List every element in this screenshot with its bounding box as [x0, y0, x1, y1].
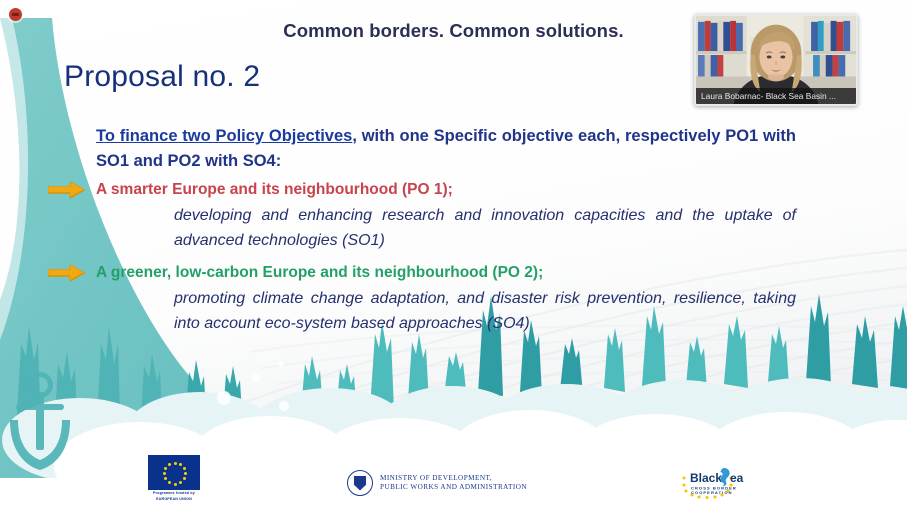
bullet-po1: A smarter Europe and its neighbourhood (… [96, 179, 796, 201]
european-union-flag-logo: Programme funded by EUROPEAN UNION [148, 455, 200, 501]
black-sea-logo-artwork: Black ea CROSS BORDER COOPERATION [676, 462, 756, 500]
arrow-right-icon [48, 181, 86, 199]
eu-flag-icon [148, 455, 200, 490]
footer-logos: Programme funded by EUROPEAN UNION MINIS… [0, 458, 907, 504]
intro-lead: To finance two Policy Objectives [96, 127, 352, 145]
eu-star-icon [164, 477, 167, 480]
black-sea-basin-programme-logo: Black ea CROSS BORDER COOPERATION [676, 462, 756, 500]
svg-text:ea: ea [730, 471, 744, 485]
participant-video-tile[interactable]: Laura Bobarnac- Black Sea Basin ... [694, 14, 858, 106]
bullet-po1-detail: developing and enhancing research and in… [174, 203, 796, 253]
ministry-seal-icon [347, 470, 373, 496]
page-title: Proposal no. 2 [64, 60, 260, 94]
bullet-po2: A greener, low-carbon Europe and its nei… [96, 262, 796, 284]
ministry-line1: MINISTRY OF DEVELOPMENT, [380, 474, 527, 484]
eu-caption-line1: Programme funded by [148, 491, 200, 495]
eu-caption-line2: EUROPEAN UNION [148, 497, 200, 501]
bullet-po1-heading: A smarter Europe and its neighbourhood (… [96, 181, 453, 198]
eu-star-icon [168, 481, 171, 484]
eu-star-icon [174, 462, 177, 465]
eu-star-icon [164, 467, 167, 470]
arrow-right-icon [48, 264, 86, 282]
ministry-of-development-logo: MINISTRY OF DEVELOPMENT, PUBLIC WORKS AN… [347, 470, 527, 496]
slide-body: To finance two Policy Objectives, with o… [96, 124, 796, 336]
eu-star-icon [168, 463, 171, 466]
svg-text:COOPERATION: COOPERATION [691, 490, 733, 495]
ministry-logo-text: MINISTRY OF DEVELOPMENT, PUBLIC WORKS AN… [380, 474, 527, 493]
bullet-po2-detail: promoting climate change adaptation, and… [174, 286, 796, 336]
eu-star-icon [184, 472, 187, 475]
intro-paragraph: To finance two Policy Objectives, with o… [96, 124, 796, 174]
eu-star-icon [179, 463, 182, 466]
eu-star-icon [183, 467, 186, 470]
eu-star-icon [183, 477, 186, 480]
ministry-line2: PUBLIC WORKS AND ADMINISTRATION [380, 483, 527, 493]
eu-star-icon [179, 481, 182, 484]
participant-name-label: Laura Bobarnac- Black Sea Basin ... [696, 88, 856, 104]
eu-star-icon [174, 483, 177, 486]
eu-star-icon [163, 472, 166, 475]
svg-text:Black: Black [690, 471, 722, 485]
bullet-po2-heading: A greener, low-carbon Europe and its nei… [96, 264, 543, 281]
presentation-slide-window: Common borders. Common solutions. Propos… [0, 0, 907, 510]
